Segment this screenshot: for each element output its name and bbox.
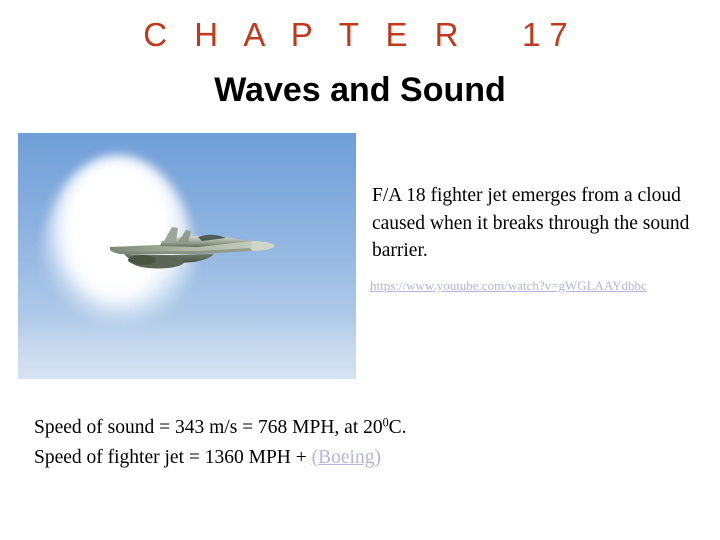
fact-line-speed-of-jet: Speed of fighter jet = 1360 MPH + (Boein… (34, 443, 694, 473)
fighter-jet-photo (18, 133, 356, 379)
page-title: Waves and Sound (0, 72, 720, 109)
slide-canvas: C H A P T E R 17 Waves and Sound (0, 0, 720, 540)
fact-sound-prefix: Speed of sound = 343 m/s = 768 MPH, at 2… (34, 417, 383, 438)
fact-sound-suffix: C. (389, 417, 407, 438)
youtube-link[interactable]: https://www.youtube.com/watch?v=gWGLAAYd… (370, 278, 647, 294)
fighter-jet-silhouette (102, 217, 278, 281)
chapter-label: C H A P T E R 17 (0, 18, 720, 53)
photo-caption: F/A 18 fighter jet emerges from a cloud … (372, 182, 708, 265)
fact-line-speed-of-sound: Speed of sound = 343 m/s = 768 MPH, at 2… (34, 413, 694, 443)
fact-jet-prefix: Speed of fighter jet = 1360 MPH + (34, 447, 312, 468)
facts-block: Speed of sound = 343 m/s = 768 MPH, at 2… (34, 413, 694, 472)
boeing-link[interactable]: (Boeing) (312, 447, 381, 468)
